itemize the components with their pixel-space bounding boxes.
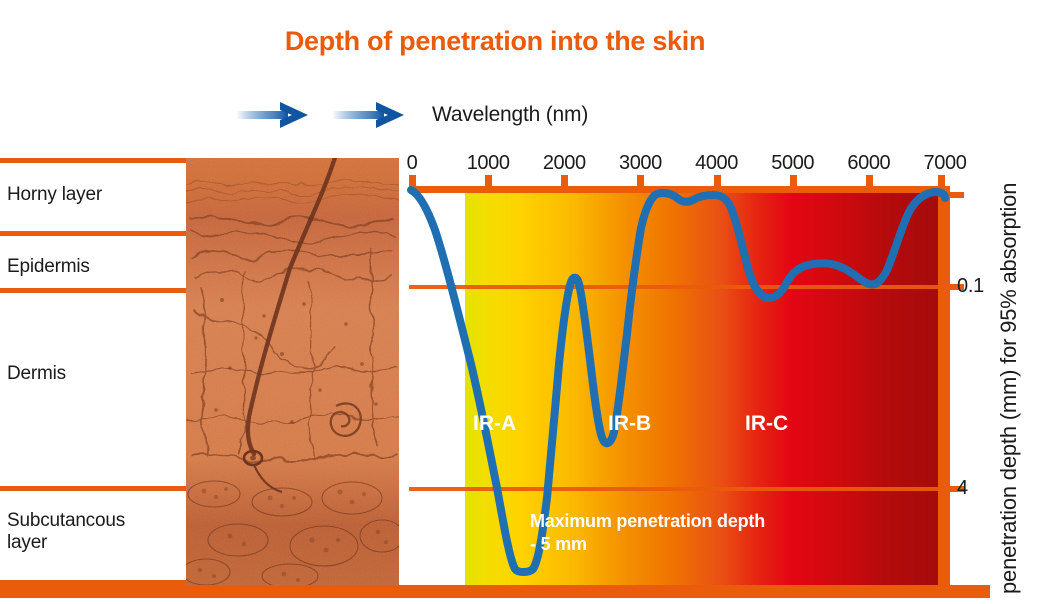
wavelength-axis-label: Wavelength (nm) [428, 103, 588, 127]
skin-layer-divider-0 [0, 158, 186, 163]
right-arrow-gradient-icon-2 [332, 100, 410, 130]
band-label-ir-a: IR-A [473, 412, 516, 436]
skin-layer-legend: Horny layerEpidermisDermisSubcutancous l… [0, 158, 186, 585]
band-label-ir-c: IR-C [745, 412, 788, 436]
skin-layer-label-1: Epidermis [7, 256, 90, 278]
wavelength-axis-header: Wavelength (nm) [236, 94, 588, 136]
max-depth-annotation-line1: Maximum penetration depth [530, 510, 765, 533]
skin-layer-label-0: Horny layer [7, 184, 102, 206]
skin-layer-label-2: Dermis [7, 363, 66, 385]
penetration-depth-chart: IR-A IR-B IR-C Maximum penetration depth… [405, 158, 990, 585]
depth-tick-label-0: 0.1 [957, 275, 984, 298]
right-arrow-gradient-icon [236, 100, 314, 130]
infographic-root: Depth of penetration into the skin [0, 0, 1046, 604]
skin-layer-label-3: Subcutancous layer [7, 510, 157, 554]
depth-axis-title: penetration depth (mm) for 95% absorptio… [996, 46, 1022, 594]
skin-cross-section-micrograph [186, 158, 399, 585]
skin-layer-divider-3 [0, 486, 186, 491]
page-title: Depth of penetration into the skin [0, 26, 990, 57]
max-depth-annotation: Maximum penetration depth - 5 mm [530, 510, 765, 556]
max-depth-annotation-line2: - 5 mm [530, 533, 765, 556]
depth-tick-label-1: 4 [957, 477, 968, 500]
bottom-axis-bar [0, 585, 990, 598]
skin-layer-divider-2 [0, 288, 186, 293]
skin-layer-divider-1 [0, 231, 186, 236]
band-label-ir-b: IR-B [608, 412, 651, 436]
